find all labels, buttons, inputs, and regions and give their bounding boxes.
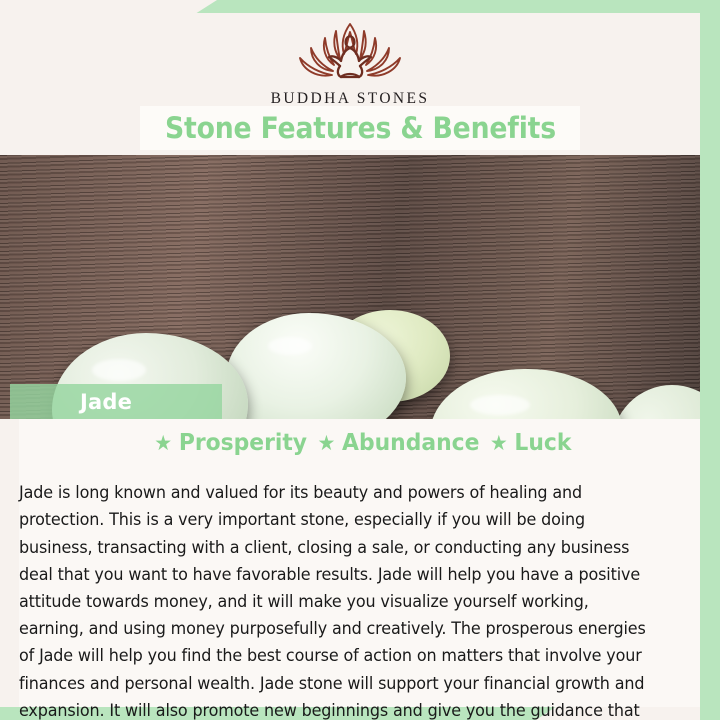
- keyword-list: ★Prosperity★Abundance★Luck: [36, 430, 683, 456]
- stone-name-label: Jade: [80, 390, 132, 414]
- stone-highlight: [92, 359, 146, 381]
- stone-highlight: [470, 395, 530, 415]
- title-banner: Stone Features & Benefits: [140, 106, 580, 150]
- stone-caption-band: Jade: [10, 384, 222, 419]
- lotus-meditation-icon: [275, 16, 425, 88]
- decorative-top-green-band: [195, 0, 720, 14]
- page-title: Stone Features & Benefits: [165, 111, 556, 145]
- star-icon: ★: [490, 431, 508, 455]
- stone-highlight: [268, 337, 312, 355]
- star-icon: ★: [317, 431, 335, 455]
- star-icon: ★: [154, 431, 172, 455]
- decorative-right-green-edge: [700, 0, 720, 720]
- description-text: Jade is long known and valued for its be…: [19, 480, 654, 720]
- brand-logo: BUDDHA STONES: [0, 16, 700, 108]
- keyword-abundance: Abundance: [342, 430, 479, 456]
- stone-photo: [0, 155, 700, 419]
- keyword-luck: Luck: [514, 430, 571, 456]
- keyword-prosperity: Prosperity: [179, 430, 307, 456]
- infographic-page: BUDDHA STONES Stone Features & Benefits …: [0, 0, 720, 720]
